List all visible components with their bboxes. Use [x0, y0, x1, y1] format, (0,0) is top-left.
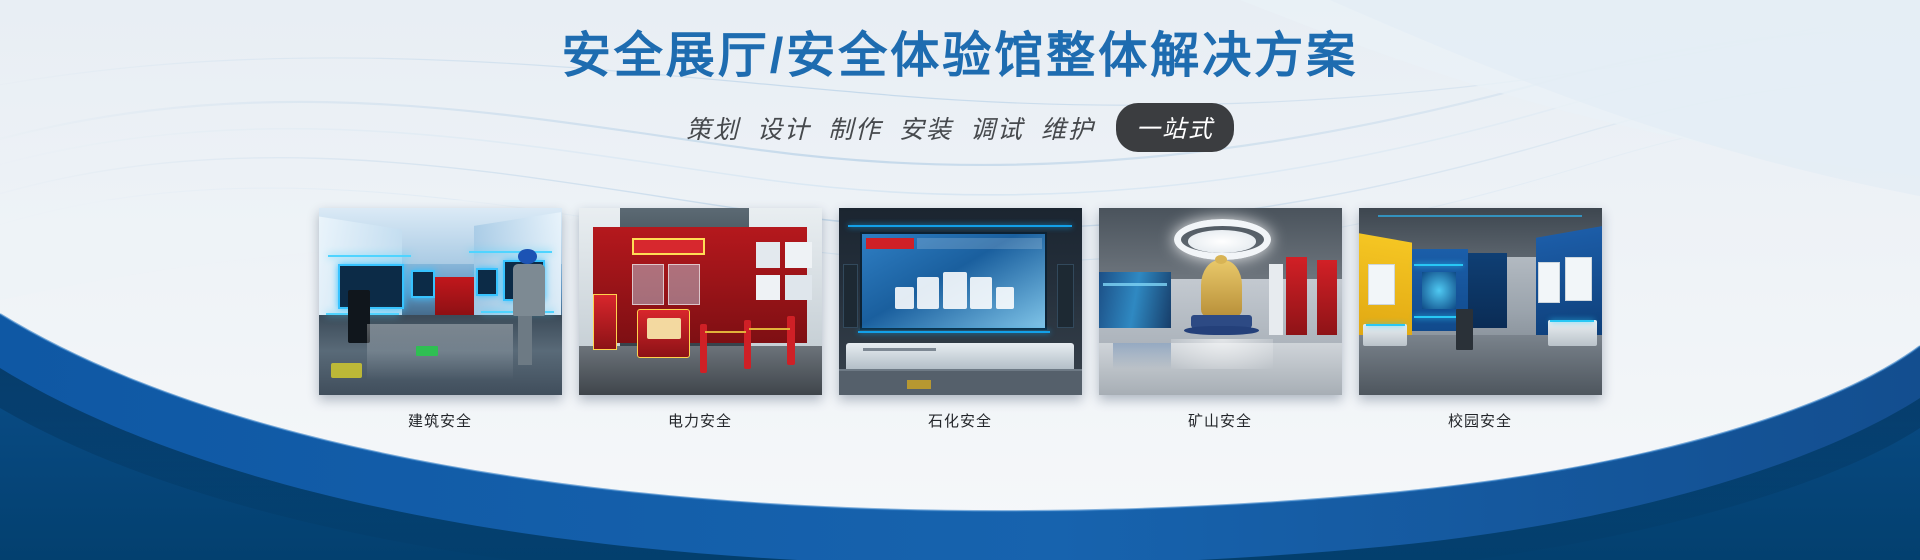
service-step-debugging: 调试 [970, 110, 1024, 146]
thumbnail-caption-petrochemical-safety: 石化安全 [839, 410, 1082, 431]
page-title: 安全展厅/安全体验馆整体解决方案 [0, 26, 1920, 87]
service-step-design: 设计 [757, 110, 811, 146]
thumbnail-caption-construction-safety: 建筑安全 [319, 410, 562, 431]
thumbnail-card-campus-safety[interactable]: 校园安全 [1359, 208, 1602, 431]
service-step-planning: 策划 [686, 110, 740, 146]
service-steps-row: 策划 设计 制作 安装 调试 维护 一站式 [0, 103, 1920, 152]
thumbnail-image-petrochemical-safety[interactable] [839, 208, 1082, 395]
scene-campus-safety [1359, 208, 1602, 395]
thumbnail-card-petrochemical-safety[interactable]: 石化安全 [839, 208, 1082, 431]
thumbnail-card-electric-power-safety[interactable]: 电力安全 [579, 208, 822, 431]
scene-electric-power-safety [579, 208, 822, 395]
scene-mining-safety [1099, 208, 1342, 395]
scene-petrochemical-safety [839, 208, 1082, 395]
banner-headline: 安全展厅/安全体验馆整体解决方案 策划 设计 制作 安装 调试 维护 一站式 [0, 0, 1920, 152]
thumbnail-image-electric-power-safety[interactable] [579, 208, 822, 395]
thumbnail-image-mining-safety[interactable] [1099, 208, 1342, 395]
thumbnail-card-mining-safety[interactable]: 矿山安全 [1099, 208, 1342, 431]
service-step-maintenance: 维护 [1041, 110, 1095, 146]
exhibition-thumbnail-row: 建筑安全 [0, 208, 1920, 431]
service-step-installation: 安装 [899, 110, 953, 146]
scene-construction-safety [319, 208, 562, 395]
one-stop-badge: 一站式 [1116, 103, 1234, 152]
thumbnail-caption-campus-safety: 校园安全 [1359, 410, 1602, 431]
thumbnail-card-construction-safety[interactable]: 建筑安全 [319, 208, 562, 431]
service-step-production: 制作 [828, 110, 882, 146]
thumbnail-caption-mining-safety: 矿山安全 [1099, 410, 1342, 431]
thumbnail-image-construction-safety[interactable] [319, 208, 562, 395]
safety-exhibition-hall-banner: 安全展厅/安全体验馆整体解决方案 策划 设计 制作 安装 调试 维护 一站式 [0, 0, 1920, 560]
thumbnail-caption-electric-power-safety: 电力安全 [579, 410, 822, 431]
thumbnail-image-campus-safety[interactable] [1359, 208, 1602, 395]
